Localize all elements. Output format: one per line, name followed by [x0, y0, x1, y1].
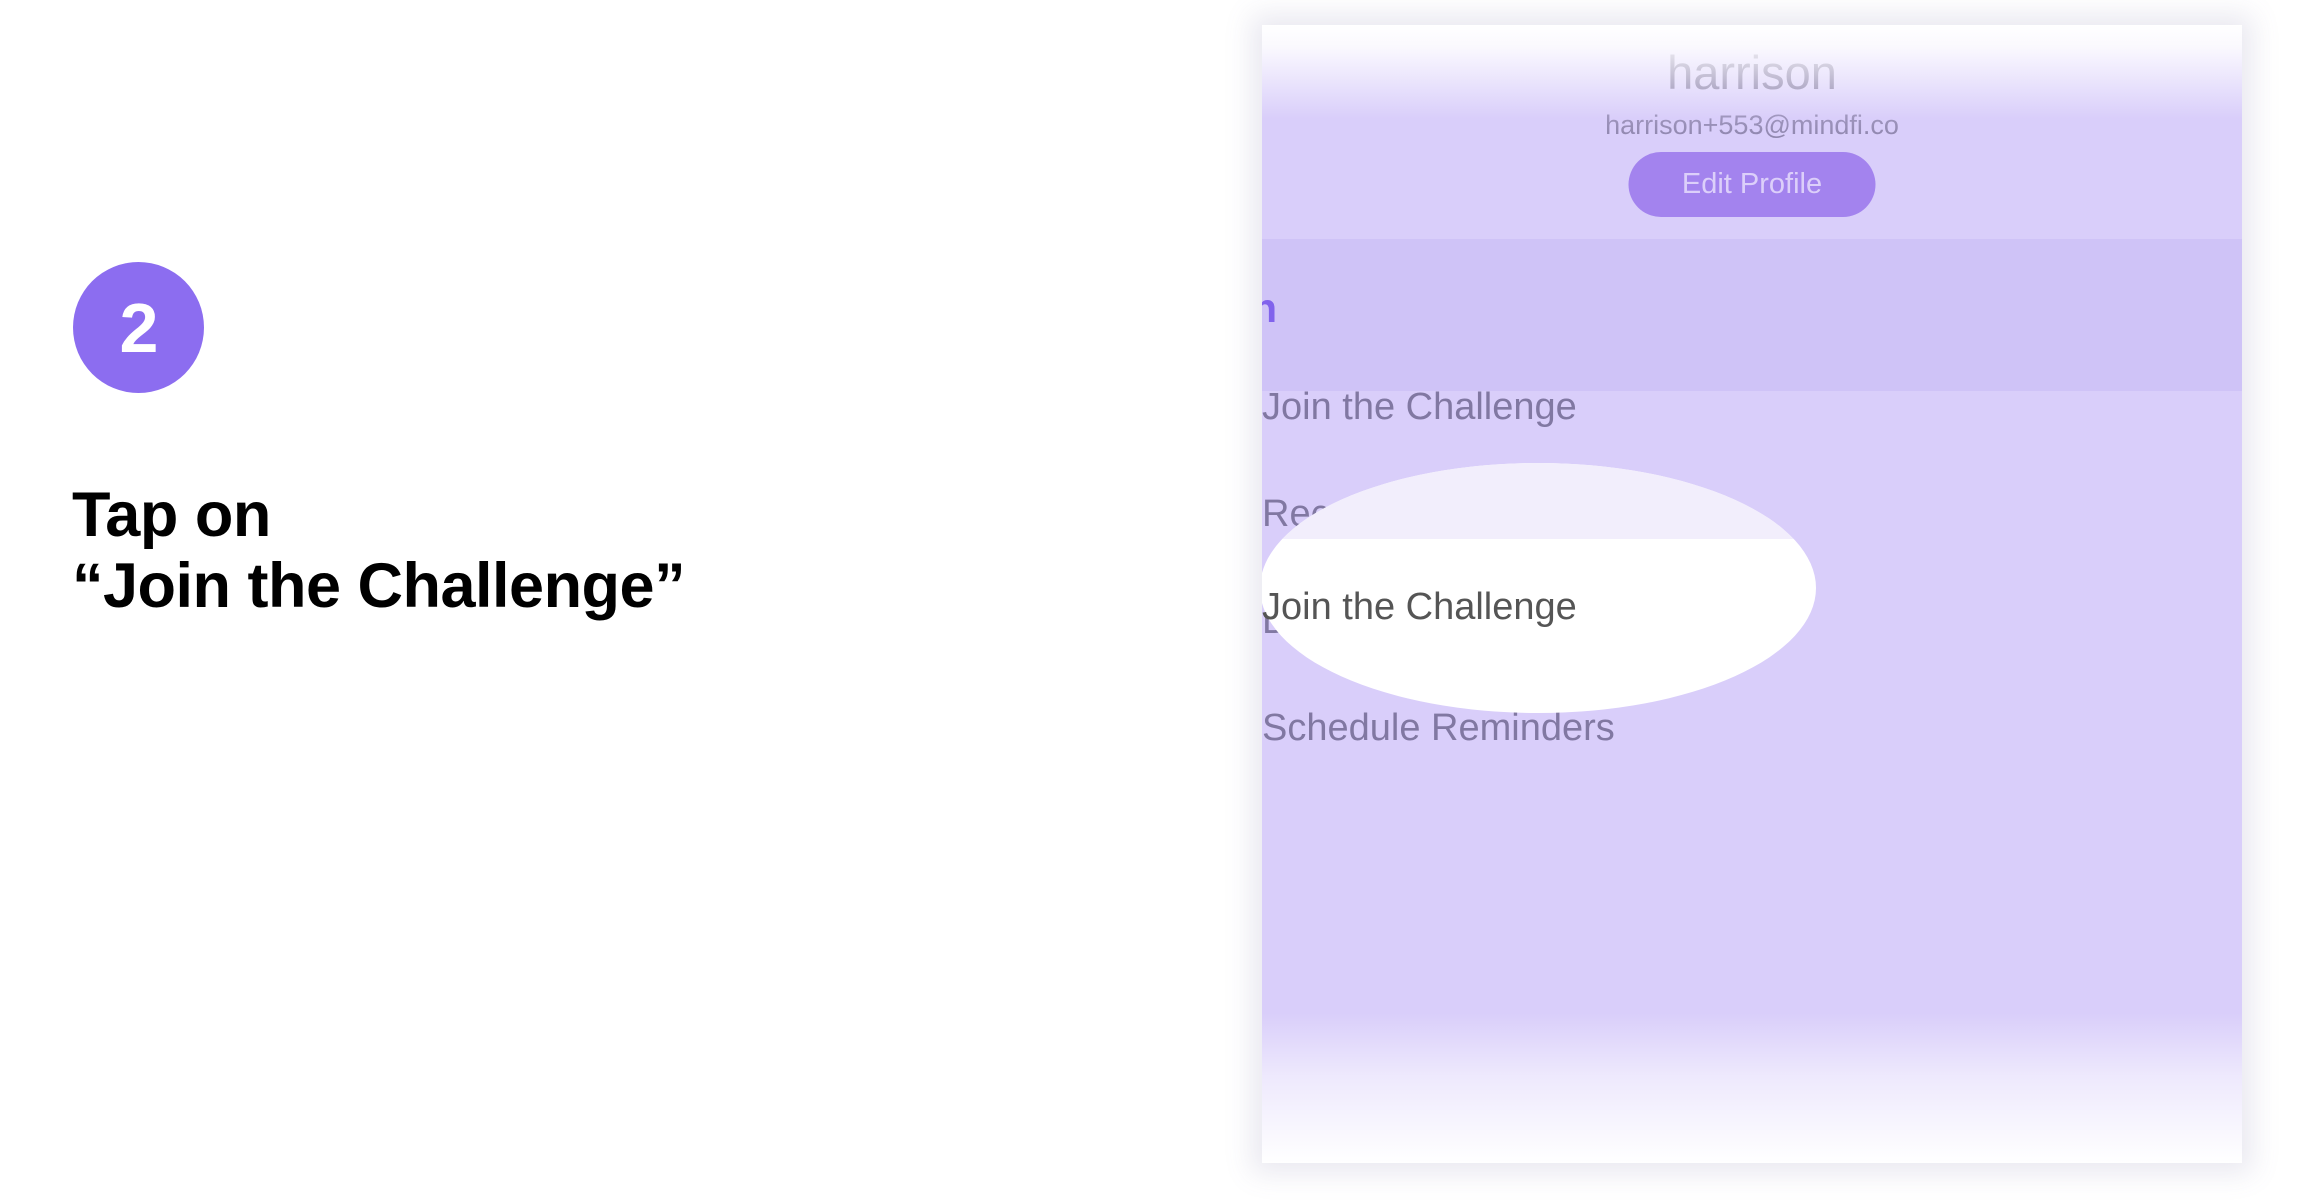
- step-number-label: 2: [120, 293, 158, 363]
- step-number-badge: 2: [73, 262, 204, 393]
- spotlight-tint: [1262, 463, 1816, 539]
- instruction-headline: Tap on “Join the Challenge”: [72, 480, 1122, 622]
- highlighted-menu-item-join-the-challenge[interactable]: Join the Challenge: [1262, 586, 1577, 629]
- menu-item-join-the-challenge[interactable]: Join the Challenge: [1262, 386, 1577, 429]
- instruction-panel: 2 Tap on “Join the Challenge”: [0, 0, 1240, 1200]
- app-screenshot-panel: harrison harrison+553@mindfi.co Edit Pro…: [1262, 25, 2242, 1163]
- menu-item-schedule-reminders[interactable]: Schedule Reminders: [1262, 707, 1615, 750]
- app-panel-content: harrison harrison+553@mindfi.co Edit Pro…: [1262, 25, 2242, 1163]
